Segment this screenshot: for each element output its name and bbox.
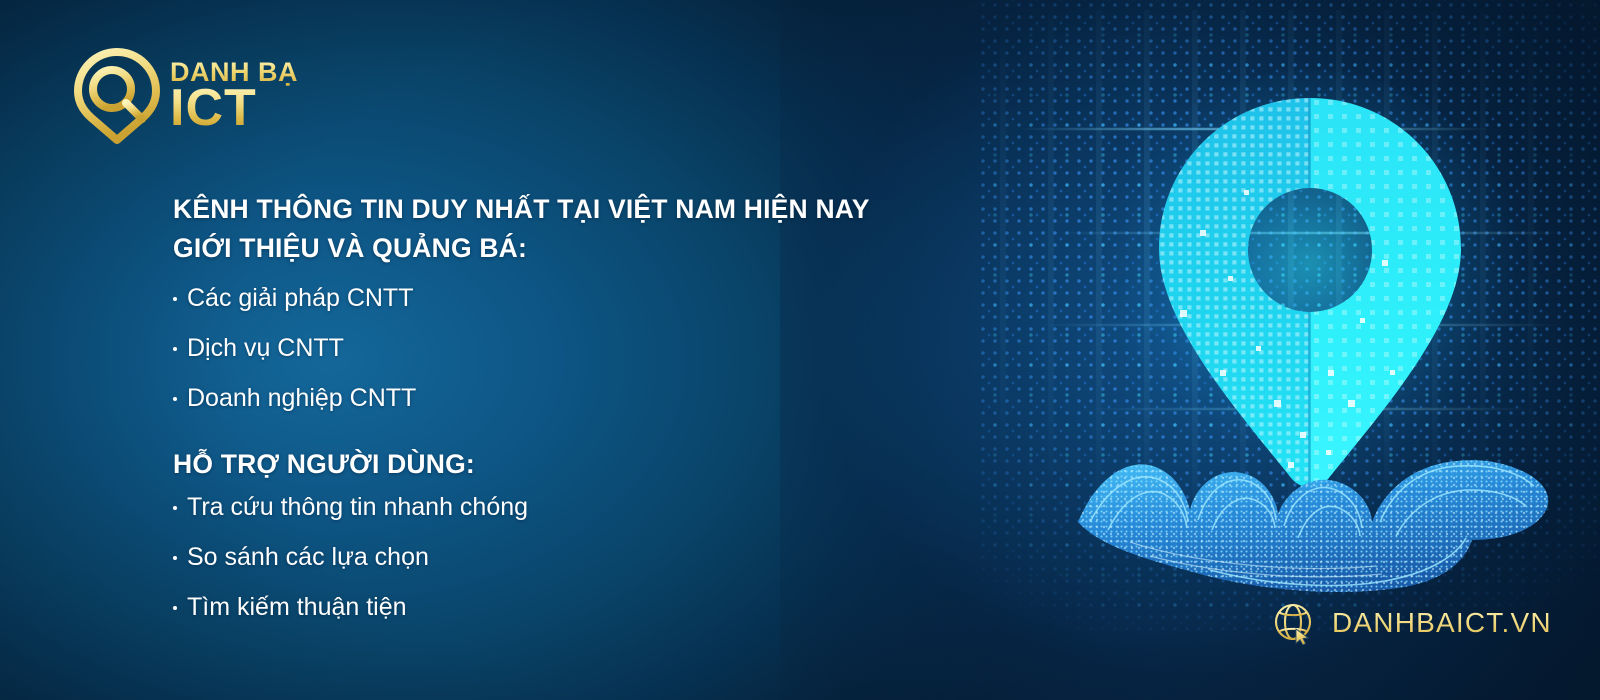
map-pin-search-icon [74,47,160,145]
list-item: Tra cứu thông tin nhanh chóng [173,495,973,520]
copy-block: KÊNH THÔNG TIN DUY NHẤT TẠI VIỆT NAM HIỆ… [173,190,973,620]
list-item: Tìm kiếm thuận tiện [173,595,973,620]
hero-illustration [1060,70,1560,590]
brand-logo[interactable]: DANH BẠ ICT [74,46,298,146]
list-item: Doanh nghiệp CNTT [173,386,973,411]
brand-name-bottom: ICT [170,82,298,134]
headline-line-1: KÊNH THÔNG TIN DUY NHẤT TẠI VIỆT NAM HIỆ… [173,194,870,224]
list-item: Dịch vụ CNTT [173,336,973,361]
website-url[interactable]: DANHBAICT.VN [1332,607,1552,639]
promo-banner: DANH BẠ ICT KÊNH THÔNG TIN DUY NHẤT TẠI … [0,0,1600,700]
list-item: Các giải pháp CNTT [173,286,973,311]
list-item: So sánh các lựa chọn [173,545,973,570]
promote-list: Các giải pháp CNTT Dịch vụ CNTT Doanh ng… [173,286,973,411]
support-list: Tra cứu thông tin nhanh chóng So sánh cá… [173,495,973,620]
globe-cursor-icon [1272,601,1316,645]
headline: KÊNH THÔNG TIN DUY NHẤT TẠI VIỆT NAM HIỆ… [173,190,973,268]
support-heading: HỖ TRỢ NGƯỜI DÙNG: [173,451,973,478]
headline-line-2: GIỚI THIỆU VÀ QUẢNG BÁ: [173,229,973,268]
brand-wordmark: DANH BẠ ICT [170,59,298,134]
website-footer[interactable]: DANHBAICT.VN [1272,600,1552,646]
